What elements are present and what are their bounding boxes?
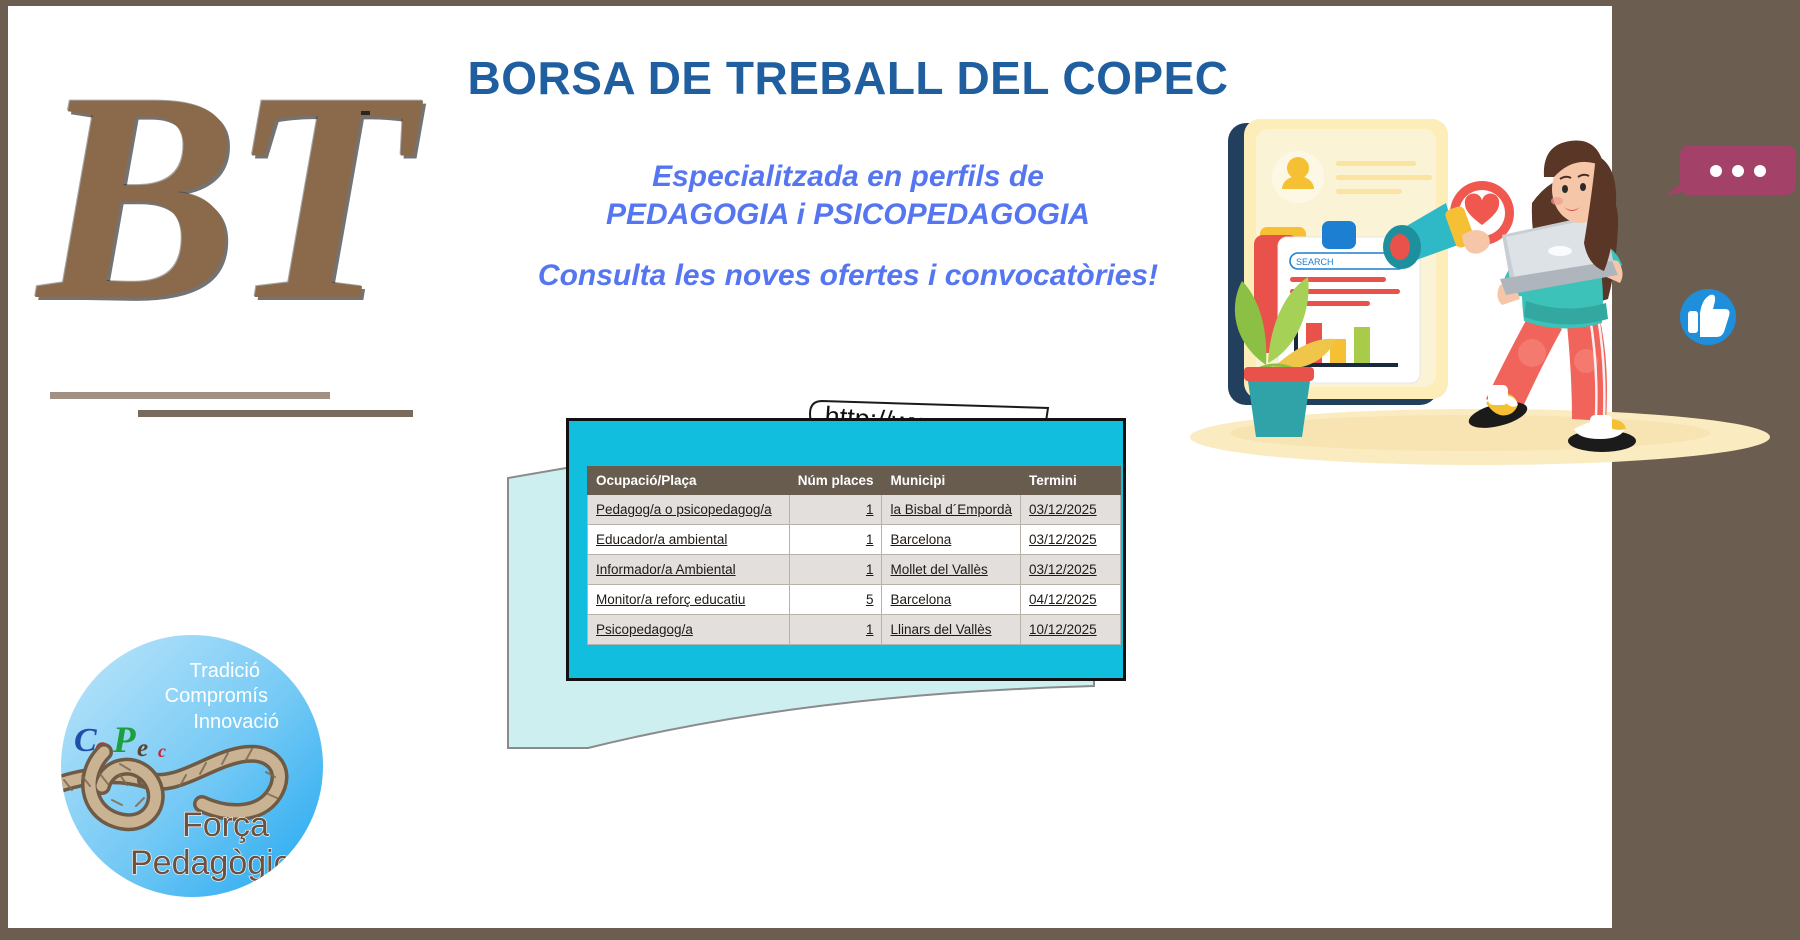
table-row[interactable]: Pedagog/a o psicopedagog/a 1 la Bisbal d… <box>588 495 1121 525</box>
slide-frame: BT BORSA DE TREBALL DEL COPEC Especialit… <box>0 0 1800 940</box>
cell-places: 1 <box>789 555 882 585</box>
offers-table: Ocupació/Plaça Núm places Municipi Termi… <box>587 466 1121 645</box>
deadline-value[interactable]: 03/12/2025 <box>1029 562 1097 577</box>
cell-occupation: Educador/a ambiental <box>588 525 790 555</box>
cell-municipality: Mollet del Vallès <box>882 555 1021 585</box>
deadline-value[interactable]: 04/12/2025 <box>1029 592 1097 607</box>
cell-deadline: 10/12/2025 <box>1021 615 1121 645</box>
svg-text:e: e <box>137 735 148 762</box>
offer-link[interactable]: Monitor/a reforç educatiu <box>596 592 745 607</box>
eye <box>1580 183 1586 191</box>
places-value[interactable]: 1 <box>866 562 874 577</box>
column-header-places[interactable]: Núm places <box>789 467 882 495</box>
cell-places: 1 <box>789 615 882 645</box>
cell-deadline: 04/12/2025 <box>1021 585 1121 615</box>
cell-occupation: Monitor/a reforç educatiu <box>588 585 790 615</box>
cell-places: 1 <box>789 525 882 555</box>
municipality-value[interactable]: Llinars del Vallès <box>890 622 991 637</box>
places-value[interactable]: 1 <box>866 532 874 547</box>
table-row[interactable]: Informador/a Ambiental 1 Mollet del Vall… <box>588 555 1121 585</box>
bubble-dot <box>1732 165 1744 177</box>
bt-logo-bar-top <box>50 392 330 399</box>
eye <box>1562 185 1568 193</box>
cell-municipality: la Bisbal d´Empordà <box>882 495 1021 525</box>
column-header-municipality[interactable]: Municipi <box>882 467 1021 495</box>
bubble-dot <box>1710 165 1722 177</box>
bt-logo-bar-bottom <box>138 410 413 417</box>
subtitle-block: Especialitzada en perfils de PEDAGOGIA i… <box>448 158 1248 234</box>
page-title: BORSA DE TREBALL DEL COPEC <box>448 51 1248 105</box>
subtitle-line-2: PEDAGOGIA i PSICOPEDAGOGIA <box>448 196 1248 234</box>
svg-text:P: P <box>112 720 136 761</box>
thumbs-up-icon <box>1680 289 1736 345</box>
bt-logo-letters: BT <box>38 46 478 376</box>
cell-deadline: 03/12/2025 <box>1021 525 1121 555</box>
copec-tagline-2: Compromís <box>165 685 268 707</box>
copec-tagline-3: Innovació <box>193 711 279 733</box>
column-header-deadline[interactable]: Termini <box>1021 467 1121 495</box>
cell-occupation: Informador/a Ambiental <box>588 555 790 585</box>
subtitle-line-1: Especialitzada en perfils de <box>448 158 1248 196</box>
copec-motto-1: Força <box>182 806 269 844</box>
cell-deadline: 03/12/2025 <box>1021 495 1121 525</box>
copec-motto-2: Pedagògica <box>130 844 310 882</box>
job-search-illustration: SEARCH <box>1150 85 1800 485</box>
deadline-value[interactable]: 03/12/2025 <box>1029 502 1097 517</box>
places-value[interactable]: 5 <box>866 592 874 607</box>
table-row[interactable]: Educador/a ambiental 1 Barcelona 03/12/2… <box>588 525 1121 555</box>
municipality-value[interactable]: Barcelona <box>890 532 951 547</box>
cell-occupation: Psicopedagog/a <box>588 615 790 645</box>
cell-places: 5 <box>789 585 882 615</box>
offer-link[interactable]: Informador/a Ambiental <box>596 562 736 577</box>
cell-municipality: Barcelona <box>882 585 1021 615</box>
offer-link[interactable]: Pedagog/a o psicopedagog/a <box>596 502 772 517</box>
cell-occupation: Pedagog/a o psicopedagog/a <box>588 495 790 525</box>
cell-places: 1 <box>789 495 882 525</box>
offer-link[interactable]: Educador/a ambiental <box>596 532 727 547</box>
table-row[interactable]: Psicopedagog/a 1 Llinars del Vallès 10/1… <box>588 615 1121 645</box>
municipality-value[interactable]: Barcelona <box>890 592 951 607</box>
column-header-occupation[interactable]: Ocupació/Plaça <box>588 467 790 495</box>
deadline-value[interactable]: 10/12/2025 <box>1029 622 1097 637</box>
offer-link[interactable]: Psicopedagog/a <box>596 622 693 637</box>
municipality-value[interactable]: la Bisbal d´Empordà <box>890 502 1012 517</box>
bubble-dot <box>1754 165 1766 177</box>
svg-text:c: c <box>158 741 166 761</box>
cell-deadline: 03/12/2025 <box>1021 555 1121 585</box>
deadline-value[interactable]: 03/12/2025 <box>1029 532 1097 547</box>
places-value[interactable]: 1 <box>866 622 874 637</box>
copec-logo: Tradició Compromís Innovació C o P e c <box>60 634 325 899</box>
cell-municipality: Llinars del Vallès <box>882 615 1021 645</box>
bt-logo: BT <box>38 46 478 436</box>
copec-tagline-1: Tradició <box>190 660 260 682</box>
table-header-row: Ocupació/Plaça Núm places Municipi Termi… <box>588 467 1121 495</box>
offers-panel: Ocupació/Plaça Núm places Municipi Termi… <box>566 418 1126 681</box>
municipality-value[interactable]: Mollet del Vallès <box>890 562 987 577</box>
places-value[interactable]: 1 <box>866 502 874 517</box>
bt-logo-speck <box>361 111 370 115</box>
speech-bubble <box>1666 145 1796 195</box>
table-row[interactable]: Monitor/a reforç educatiu 5 Barcelona 04… <box>588 585 1121 615</box>
search-label: SEARCH <box>1296 257 1334 267</box>
hand <box>1462 230 1490 254</box>
cell-municipality: Barcelona <box>882 525 1021 555</box>
